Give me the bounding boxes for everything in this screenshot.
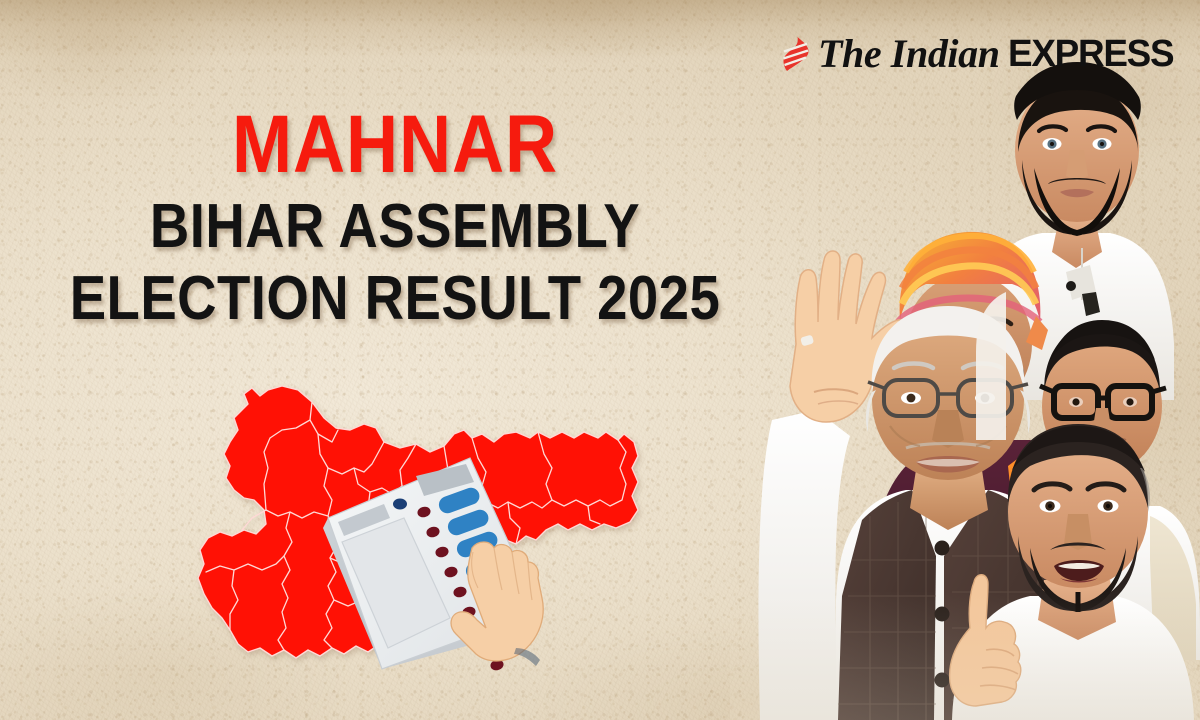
masthead-the-indian: The Indian [818,34,1000,74]
headline-line-3: ELECTION RESULT 2025 [47,268,742,330]
the-indian-express-logo[interactable]: The Indian EXPRESS [781,34,1178,74]
headline-line-2: BIHAR ASSEMBLY [47,196,742,258]
bihar-map-graphic [186,372,656,702]
politician-collage [730,0,1200,720]
evm-power-led [393,499,407,510]
election-result-poster: MAHNAR BIHAR ASSEMBLY ELECTION RESULT 20… [0,0,1200,720]
masthead-express: EXPRESS [1008,35,1173,73]
evm-voting-machine [320,452,570,687]
constituency-name: MAHNAR [47,104,742,186]
express-flame-icon [781,36,811,72]
